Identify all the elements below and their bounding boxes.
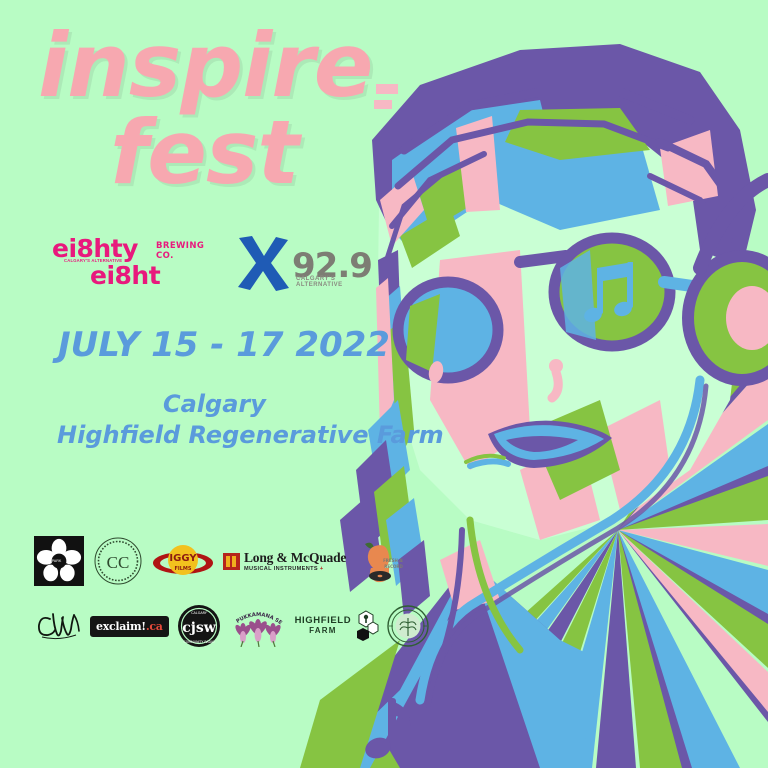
long-mcquade-sublabel: MUSICAL INSTRUMENTS	[244, 566, 318, 572]
eighty-eight-line2: ei8ht	[90, 263, 160, 288]
partner-logos: PARK CC IGGY FILM	[34, 533, 374, 651]
ctv-script-logo	[34, 609, 82, 643]
highfield-hex-mark	[353, 609, 379, 643]
fresh-air-sublabel: RECORDS	[384, 564, 403, 569]
eighty-eight-brewing-co-logo: ei8hty ei8ht BREWING CO. CALGARY'S ALTER…	[52, 232, 202, 294]
exclaim-label: exclaim!	[96, 620, 146, 633]
long-mcquade-name: Long & McQuade	[244, 551, 346, 565]
partner-row-1: PARK CC IGGY FILM	[34, 533, 374, 589]
festival-city: Calgary	[163, 390, 266, 418]
iggy-sublabel: FILMS	[174, 566, 191, 572]
svg-text:CALGARY: CALGARY	[191, 611, 208, 615]
svg-text:COMMUNITY RADIO: COMMUNITY RADIO	[183, 640, 214, 644]
title-line-inspire: inspire	[38, 26, 438, 107]
long-mcquade-mark	[223, 553, 240, 570]
highfield-sublabel: FARM	[295, 626, 352, 636]
cc-seal-label: CC	[107, 553, 130, 572]
green-circular-seal-logo	[387, 605, 429, 647]
highfield-label: HIGHFIELD	[295, 616, 352, 626]
festival-dates: JULY 15 - 17 2022	[58, 325, 390, 365]
title-line-fest: fest	[110, 113, 438, 194]
x-92-9-radio-logo: 92.9 CALGARY'S ALTERNATIVE	[236, 232, 366, 294]
x-tagline: CALGARY'S ALTERNATIVE	[296, 276, 366, 288]
eighty-eight-subtext: CALGARY'S ALTERNATIVE	[64, 258, 122, 263]
exclaim-sublabel: .ca	[146, 620, 163, 633]
long-and-mcquade-logo: Long & McQuade MUSICAL INSTRUMENTS +	[223, 551, 346, 572]
flower-square-logo: PARK	[34, 536, 84, 586]
x-brush-mark	[236, 234, 290, 292]
presenting-sponsors: ei8hty ei8ht BREWING CO. CALGARY'S ALTER…	[52, 232, 366, 294]
pukkamana-seeds-logo: PUKKAMANA SEED	[229, 605, 287, 647]
festival-poster: inspire fest ei8hty ei8ht BREWING CO. CA…	[0, 0, 768, 768]
poster-title: inspire fest	[38, 26, 438, 194]
svg-text:PARK: PARK	[52, 559, 62, 563]
iggy-label: IGGY	[169, 553, 197, 564]
iggy-films-logo: IGGY FILMS	[152, 540, 214, 582]
fresh-air-records-peach-logo: FRESH AIR RECORDS	[355, 538, 403, 584]
cjsw-radio-logo: cjsw CALGARY COMMUNITY RADIO	[177, 604, 221, 648]
eighty-eight-tagline: BREWING CO.	[156, 241, 204, 261]
partner-row-2: exclaim!.ca cjsw CALGARY COMMUNITY RADIO	[34, 601, 374, 651]
fresh-air-label: FRESH AIR	[383, 558, 403, 563]
cc-seal-logo: CC	[93, 536, 143, 586]
highfield-farm-logo: HIGHFIELD FARM	[295, 609, 380, 643]
festival-venue: Highfield Regenerative Farm	[57, 421, 444, 449]
cjsw-label: cjsw	[182, 620, 216, 636]
exclaim-ca-logo: exclaim!.ca	[90, 616, 169, 637]
